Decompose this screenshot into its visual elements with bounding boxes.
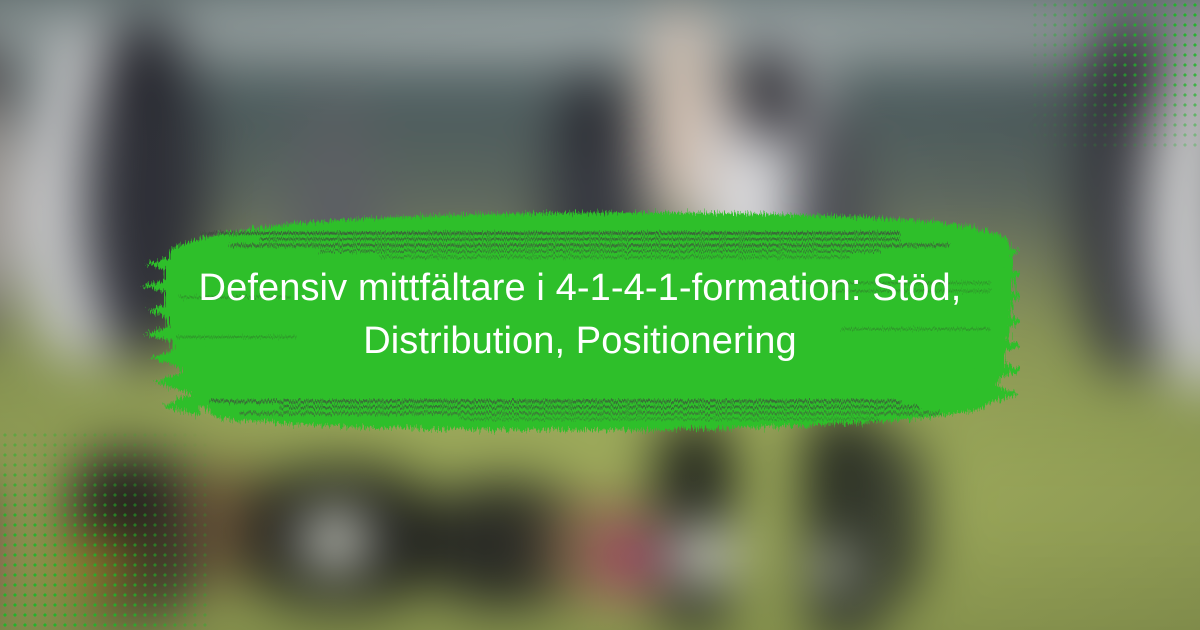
- page-title: Defensiv mittfältare i 4-1-4-1-formation…: [150, 262, 1010, 368]
- social-share-card: Defensiv mittfältare i 4-1-4-1-formation…: [0, 0, 1200, 630]
